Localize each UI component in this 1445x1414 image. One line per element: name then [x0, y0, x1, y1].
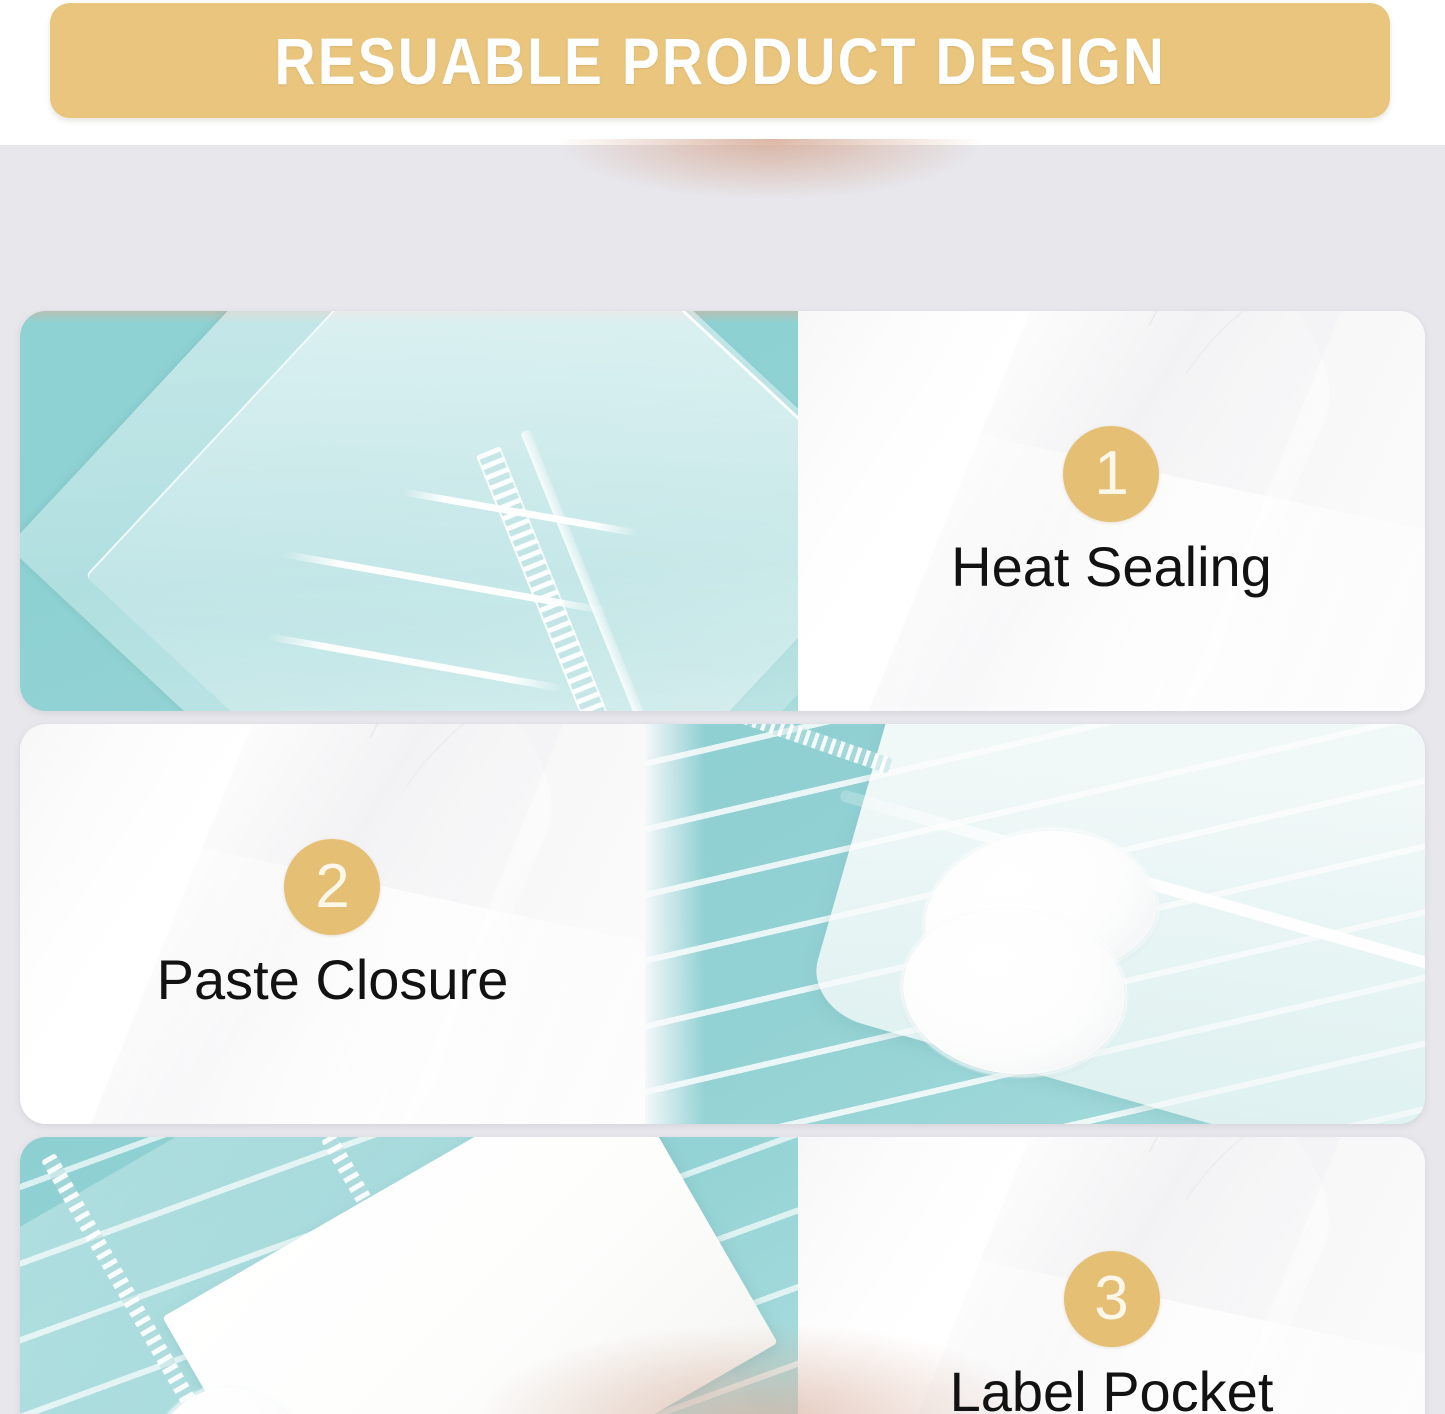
- edge-fade-overlay: [645, 724, 705, 1124]
- panels-board: 1 Heat Sealing 2 Paste Closure: [0, 145, 1445, 1414]
- feature-photo-paste-closure: [645, 724, 1425, 1124]
- feature-panel-heat-sealing: 1 Heat Sealing: [20, 311, 1425, 711]
- step-number: 3: [1094, 1268, 1128, 1330]
- step-stack: 1 Heat Sealing: [951, 426, 1272, 597]
- feature-panel-paste-closure: 2 Paste Closure: [20, 724, 1425, 1124]
- step-stack: 2 Paste Closure: [157, 839, 509, 1010]
- feature-info-paste-closure: 2 Paste Closure: [20, 724, 645, 1124]
- step-label: Paste Closure: [157, 951, 509, 1010]
- step-number: 1: [1094, 443, 1128, 505]
- step-label: Label Pocket: [950, 1363, 1274, 1414]
- header-banner: RESUABLE PRODUCT DESIGN: [50, 3, 1390, 118]
- step-number-badge: 1: [1063, 426, 1159, 522]
- feature-photo-heat-sealing: [20, 311, 798, 711]
- feature-info-label-pocket: 3 Label Pocket: [798, 1137, 1425, 1414]
- feature-info-heat-sealing: 1 Heat Sealing: [798, 311, 1425, 711]
- step-stack: 3 Label Pocket: [950, 1251, 1274, 1414]
- product-infographic: RESUABLE PRODUCT DESIGN: [0, 0, 1445, 1414]
- step-number-badge: 3: [1064, 1251, 1160, 1347]
- page-title: RESUABLE PRODUCT DESIGN: [274, 28, 1165, 94]
- feature-panel-label-pocket: 3 Label Pocket: [20, 1137, 1425, 1414]
- step-number-badge: 2: [284, 839, 380, 935]
- feature-photo-label-pocket: [20, 1137, 798, 1414]
- step-number: 2: [315, 856, 349, 918]
- step-label: Heat Sealing: [951, 538, 1272, 597]
